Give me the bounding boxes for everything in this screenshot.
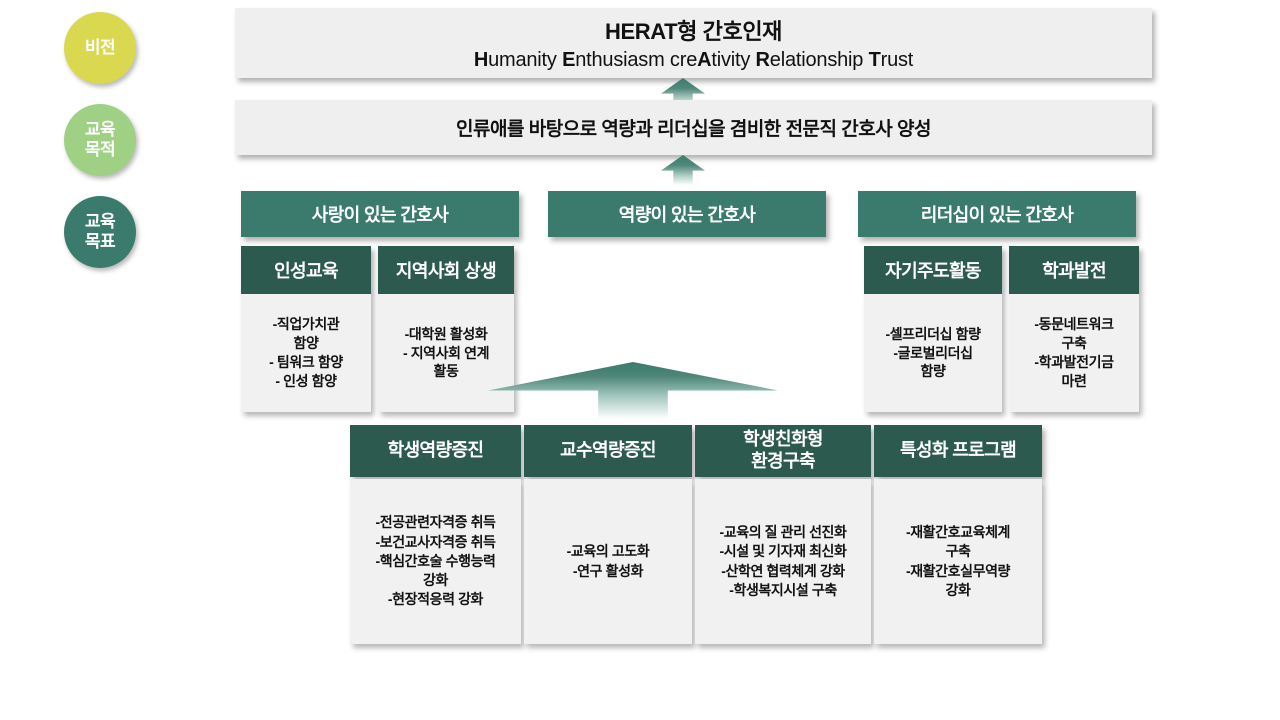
circle-education-purpose: 교육 목적 — [64, 104, 136, 176]
circle-education-goal: 교육 목표 — [64, 196, 136, 268]
subheader-self-directed-activity: 자기주도활동 — [864, 246, 1002, 294]
banner-education-purpose-text: 인류애를 바탕으로 역량과 리더십을 겸비한 전문직 간호사 양성 — [456, 114, 931, 141]
bottom-box-specialized-program: -재활간호교육체계 구축 -재활간호실무역량 강화 — [874, 479, 1042, 644]
bottom-header-student-competency: 학생역량증진 — [350, 425, 521, 477]
arrow-up-icon-wide-to-competence — [488, 362, 778, 419]
bottom-header-specialized-program: 특성화 프로그램 — [874, 425, 1042, 477]
bottom-header-student-friendly-environment: 학생친화형 환경구축 — [695, 425, 871, 477]
banner-vision: HERAT형 간호인재 Humanity Enthusiasm creAtivi… — [235, 8, 1152, 78]
subheader-character-education: 인성교육 — [241, 246, 371, 294]
subheader-department-development: 학과발전 — [1009, 246, 1139, 294]
group-header-love: 사랑이 있는 간호사 — [241, 191, 519, 237]
diagram-canvas: 비전 교육 목적 교육 목표 HERAT형 간호인재 Humanity Enth… — [0, 0, 1280, 720]
subheader-community-cooperation: 지역사회 상생 — [378, 246, 514, 294]
circle-vision: 비전 — [64, 12, 136, 84]
arrow-up-icon-to-purpose — [661, 155, 705, 185]
banner-vision-title: HERAT형 간호인재 — [605, 14, 782, 46]
bottom-header-professor-competency: 교수역량증진 — [524, 425, 692, 477]
banner-vision-subtitle: Humanity Enthusiasm creAtivity Relations… — [474, 49, 913, 72]
group-header-leadership: 리더십이 있는 간호사 — [858, 191, 1136, 237]
bottom-box-student-competency: -전공관련자격증 취득 -보건교사자격증 취득 -핵심간호술 수행능력 강화 -… — [350, 479, 521, 644]
bottom-box-student-friendly-environment: -교육의 질 관리 선진화 -시설 및 기자재 최신화 -산학연 협력체계 강화… — [695, 479, 871, 644]
group-header-competence: 역량이 있는 간호사 — [548, 191, 826, 237]
content-box-self-directed-activity: -셀프리더십 함량 -글로벌리더십 함량 — [864, 294, 1002, 412]
bottom-box-professor-competency: -교육의 고도화 -연구 활성화 — [524, 479, 692, 644]
content-box-community-cooperation: -대학원 활성화 - 지역사회 연계 활동 — [378, 294, 514, 412]
content-box-character-education: -직업가치관 함양 - 팀워크 함양 - 인성 함양 — [241, 294, 371, 412]
banner-education-purpose: 인류애를 바탕으로 역량과 리더십을 겸비한 전문직 간호사 양성 — [235, 100, 1152, 155]
content-box-department-development: -동문네트워크 구축 -학과발전기금 마련 — [1009, 294, 1139, 412]
